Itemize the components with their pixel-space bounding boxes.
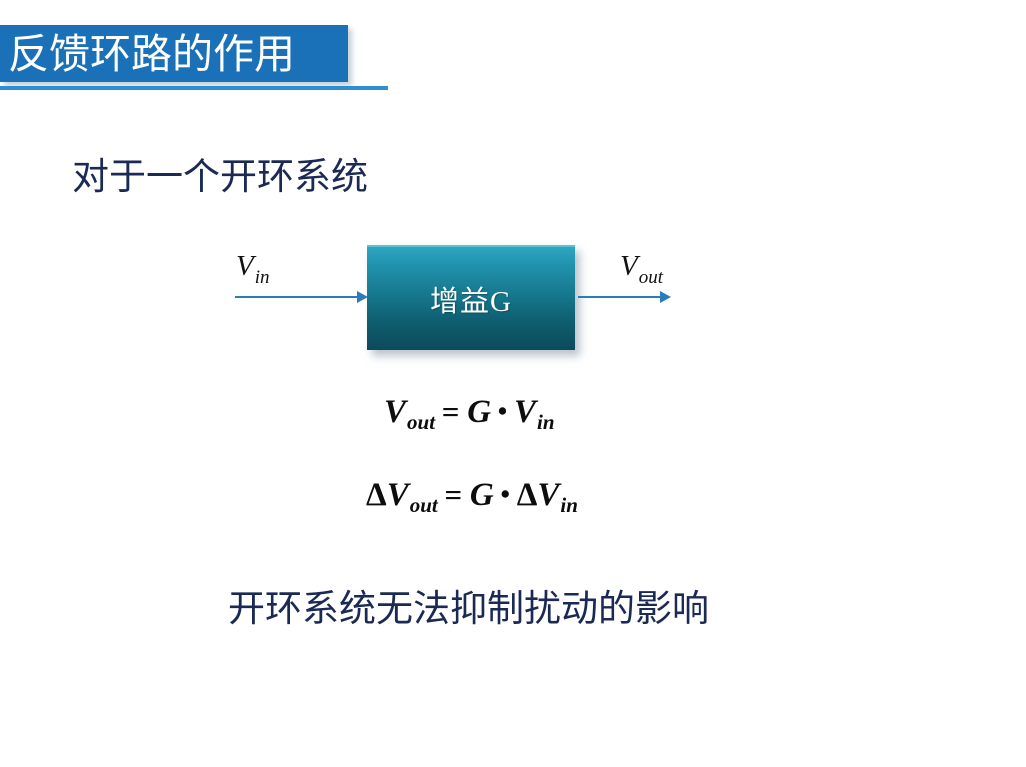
equation2-multiply-dot: • bbox=[494, 479, 517, 509]
equation2-gain-symbol: G bbox=[470, 477, 494, 513]
equation1-lhs-subscript: out bbox=[407, 410, 435, 434]
delta-gain-equation: ΔVout = G • ΔVin bbox=[366, 477, 577, 514]
equation1-rhs-subscript: in bbox=[537, 410, 555, 434]
equation2-equals: = bbox=[437, 477, 470, 512]
gain-equation: Vout = G • Vin bbox=[384, 394, 554, 431]
slide-title-underline bbox=[0, 86, 388, 90]
input-signal-arrow-head bbox=[357, 291, 368, 303]
input-signal-arrow-line bbox=[235, 296, 359, 298]
output-port-symbol: V bbox=[620, 250, 638, 282]
output-port-subscript: out bbox=[639, 267, 663, 288]
equation1-gain-symbol: G bbox=[467, 394, 491, 430]
equation1-lhs-symbol: V bbox=[384, 394, 406, 430]
slide-subtitle: 对于一个开环系统 bbox=[72, 146, 368, 200]
input-port-label: Vin bbox=[236, 250, 269, 285]
equation2-rhs-symbol: V bbox=[537, 477, 559, 513]
output-signal-arrow-head bbox=[660, 291, 671, 303]
slide-title: 反馈环路的作用 bbox=[8, 23, 348, 85]
input-port-subscript: in bbox=[255, 267, 270, 288]
gain-block: 增益G bbox=[367, 245, 575, 350]
equation2-rhs-delta: Δ bbox=[517, 477, 538, 513]
equation2-lhs-symbol: V bbox=[387, 477, 409, 513]
equation1-equals: = bbox=[434, 394, 467, 429]
gain-block-label: 增益G bbox=[430, 278, 512, 320]
equation2-rhs-subscript: in bbox=[560, 493, 578, 517]
equation2-lhs-delta: Δ bbox=[366, 477, 387, 513]
slide-conclusion: 开环系统无法抑制扰动的影响 bbox=[228, 578, 709, 632]
equation1-rhs-symbol: V bbox=[514, 394, 536, 430]
output-port-label: Vout bbox=[620, 250, 662, 285]
open-loop-block-diagram: Vin 增益G Vout bbox=[0, 0, 1026, 767]
equation2-lhs-subscript: out bbox=[410, 493, 438, 517]
input-port-symbol: V bbox=[236, 250, 254, 282]
presentation-slide: 反馈环路的作用 对于一个开环系统 Vin 增益G Vout Vout = G •… bbox=[0, 0, 1026, 767]
equation1-multiply-dot: • bbox=[491, 396, 514, 426]
output-signal-arrow-line bbox=[578, 296, 662, 298]
